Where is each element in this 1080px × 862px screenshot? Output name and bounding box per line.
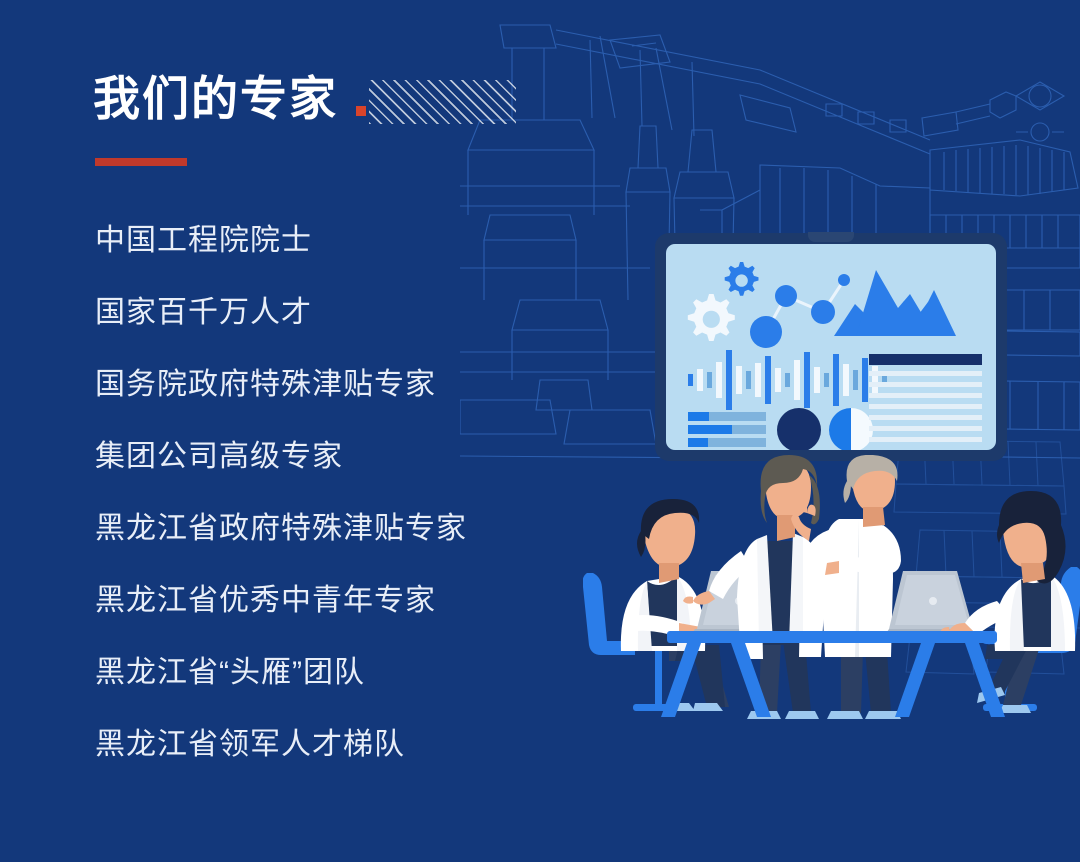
list-item: 黑龙江省“头雁”团队 [95, 637, 565, 709]
gear-icon-large [688, 294, 735, 341]
hatch-band-decoration [369, 80, 516, 124]
list-item: 国家百千万人才 [95, 277, 565, 349]
waveform-bars-chart [688, 350, 887, 410]
expert-list: 中国工程院院士 国家百千万人才 国务院政府特殊津贴专家 集团公司高级专家 黑龙江… [95, 205, 565, 781]
page-title: 我们的专家 [93, 70, 338, 128]
mountain-area-chart [834, 270, 956, 336]
progress-bar-list [688, 412, 766, 447]
analytics-dashboard-card [655, 233, 1007, 461]
gear-icon-small [725, 262, 759, 296]
page-title-row: 我们的专家 [93, 66, 366, 128]
title-underline-rule [95, 158, 187, 166]
team-meeting-illustration [583, 455, 1080, 755]
list-item: 国务院政府特殊津贴专家 [95, 349, 565, 421]
card-inner-panel [666, 244, 996, 450]
list-item: 黑龙江省领军人才梯队 [95, 709, 565, 781]
list-item: 中国工程院院士 [95, 205, 565, 277]
half-pie-chart [829, 408, 873, 450]
donut-circle-dark [777, 408, 821, 450]
red-square-accent-icon [356, 106, 366, 116]
network-graph-icon [750, 274, 850, 348]
document-lines-block [869, 354, 982, 442]
list-item: 黑龙江省优秀中青年专家 [95, 565, 565, 637]
poster-stage: 我们的专家 中国工程院院士 国家百千万人才 国务院政府特殊津贴专家 集团公司高级… [0, 0, 1080, 862]
card-notch [808, 232, 854, 242]
list-item: 黑龙江省政府特殊津贴专家 [95, 493, 565, 565]
list-item: 集团公司高级专家 [95, 421, 565, 493]
